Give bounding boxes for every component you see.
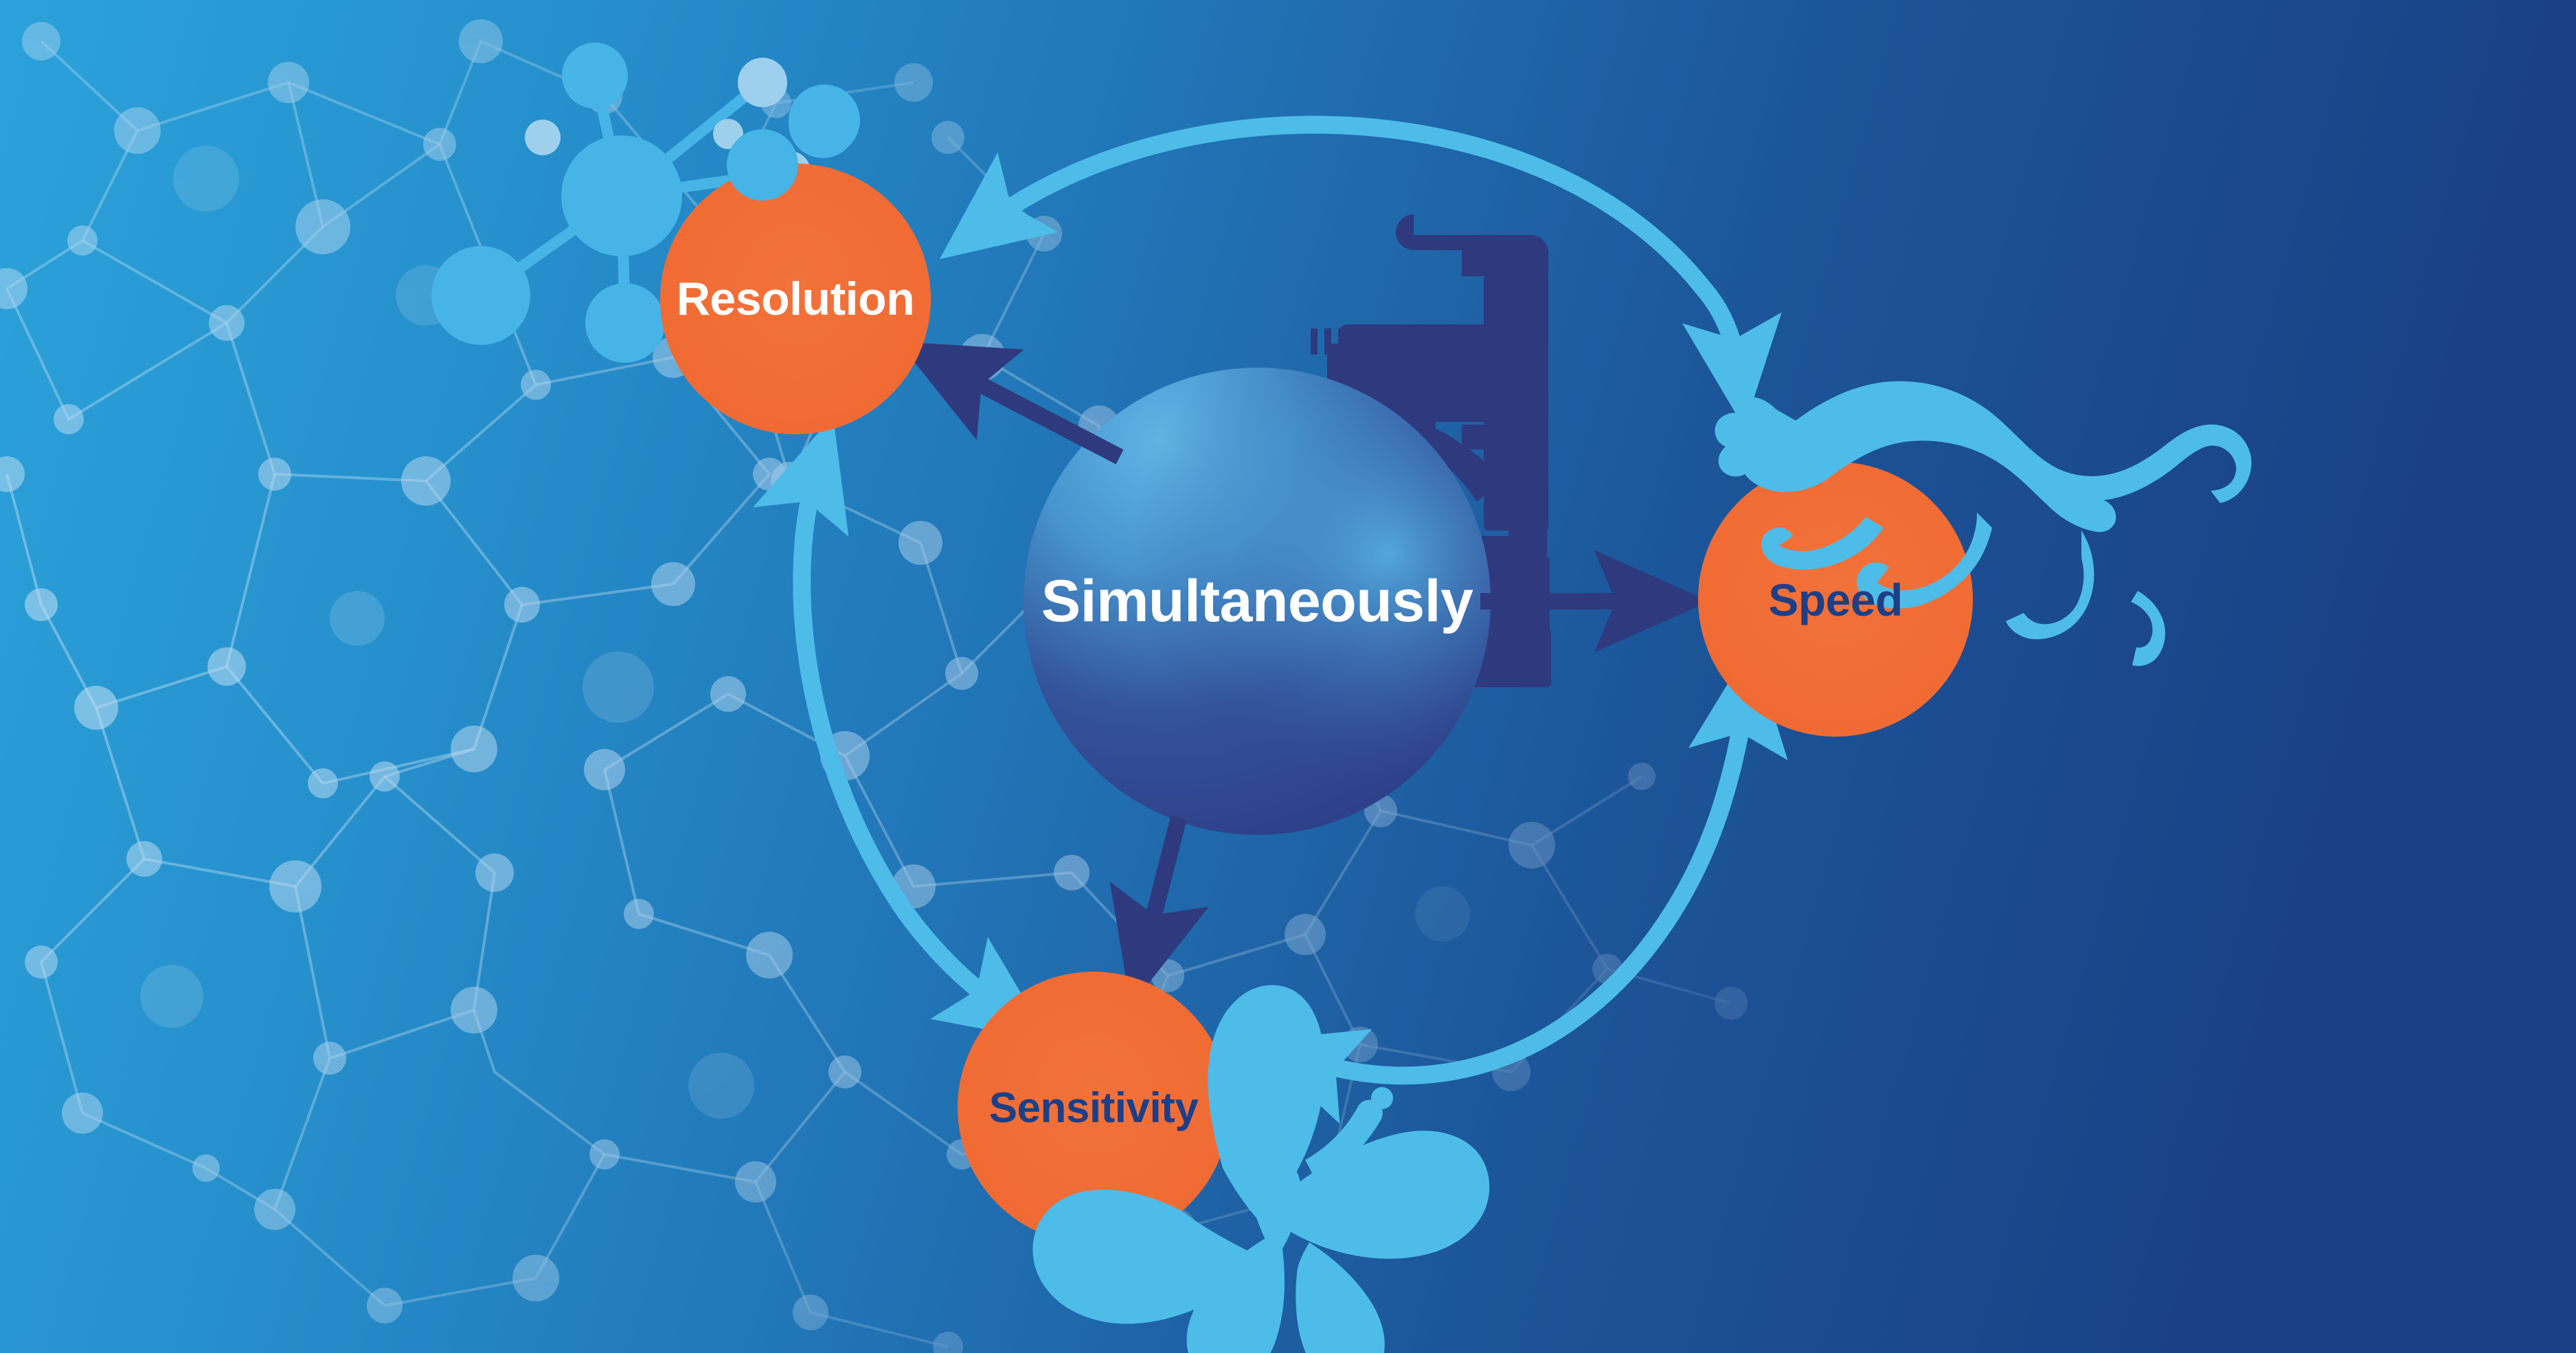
diagram-layer [0, 0, 2576, 1353]
arrow-center-to-sensitivity [1146, 818, 1179, 947]
arrow-resolution-sensitivity-arc [802, 467, 1003, 1009]
infographic-canvas: Resolution Speed Sensitivity Simultaneou… [0, 0, 2576, 1353]
arrow-center-to-resolution [952, 370, 1120, 457]
node-resolution[interactable] [660, 164, 931, 434]
